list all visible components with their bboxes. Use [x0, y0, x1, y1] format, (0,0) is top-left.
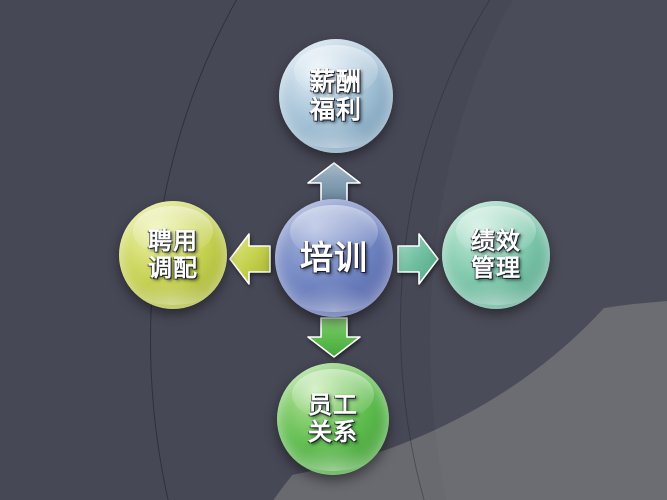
node-recruitment-line2: 调配 [148, 255, 198, 282]
node-compensation-benefits[interactable]: 薪酬 福利 [279, 39, 393, 153]
node-performance-line1: 绩效 [471, 228, 521, 255]
node-employee-relations[interactable]: 员工 关系 [277, 363, 389, 475]
arrow-left-icon [228, 232, 272, 286]
node-compensation-line1: 薪酬 [310, 68, 362, 96]
slide-canvas: 薪酬 福利 聘用 调配 培训 绩效 管理 员工 关系 [0, 0, 667, 500]
node-employee-relations-line2: 关系 [308, 419, 358, 446]
node-compensation-line2: 福利 [310, 96, 362, 124]
node-performance-management[interactable]: 绩效 管理 [442, 201, 550, 309]
node-training-label: 培训 [300, 240, 368, 277]
arrow-right-icon [396, 232, 440, 286]
node-recruitment-deployment[interactable]: 聘用 调配 [119, 201, 227, 309]
arrow-up-icon [306, 161, 362, 203]
node-training-center[interactable]: 培训 [275, 199, 393, 317]
node-performance-line2: 管理 [471, 255, 521, 282]
node-recruitment-line1: 聘用 [148, 228, 198, 255]
arrow-down-icon [306, 317, 362, 359]
node-employee-relations-line1: 员工 [308, 392, 358, 419]
